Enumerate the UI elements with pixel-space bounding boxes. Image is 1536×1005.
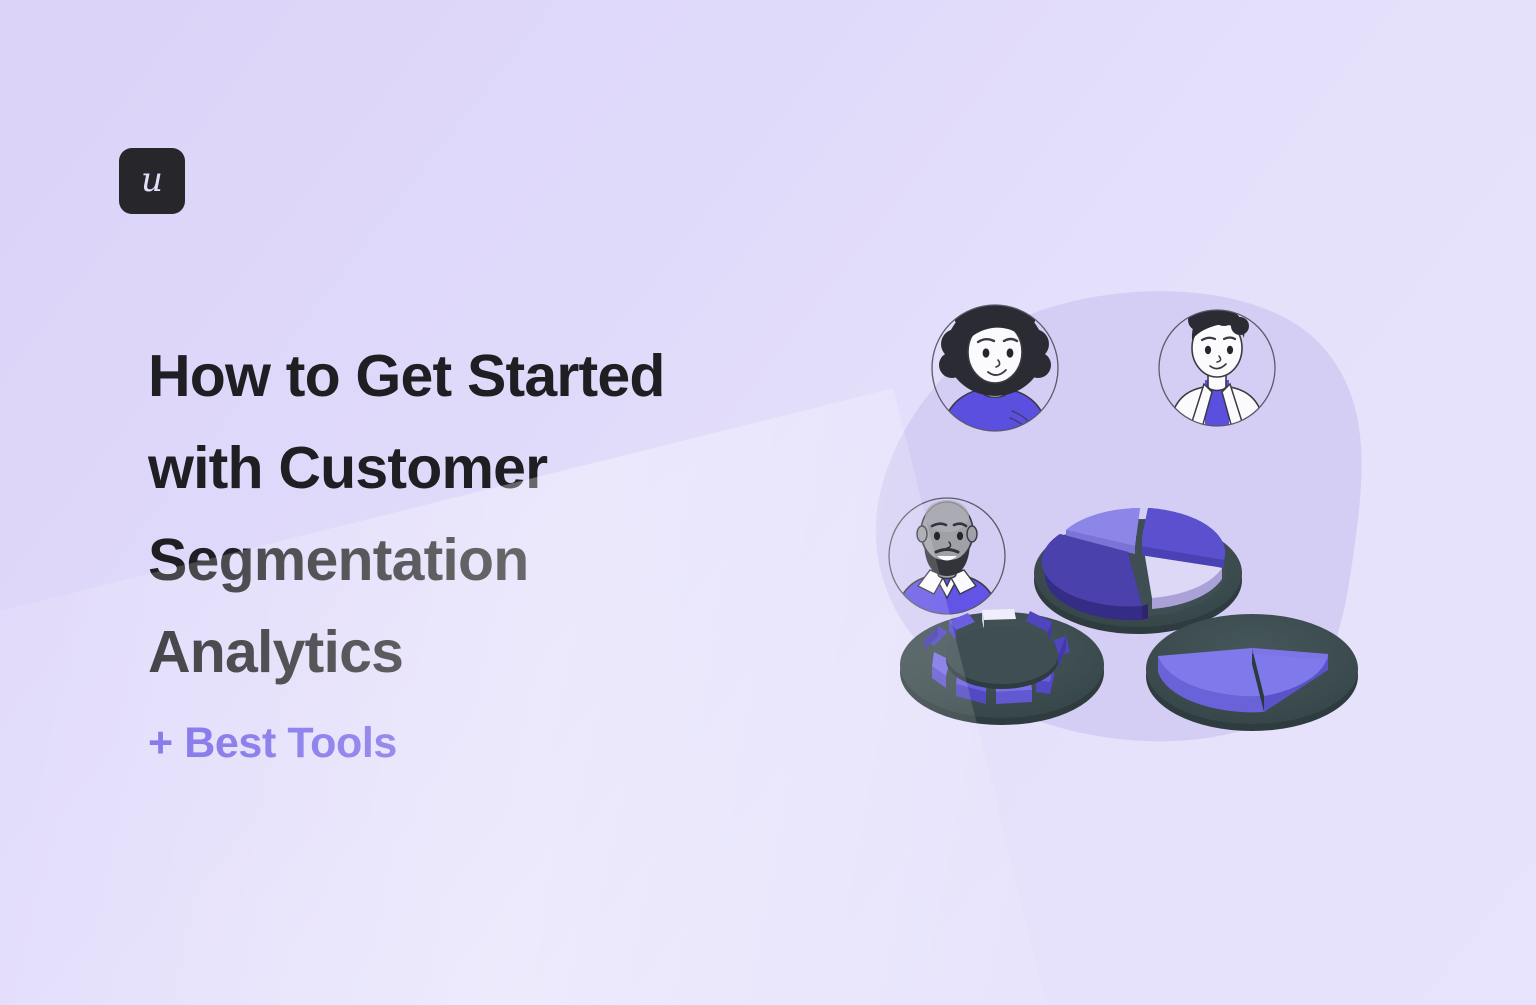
page-subtitle: + Best Tools <box>148 720 788 767</box>
logo-glyph: u <box>141 163 163 197</box>
split-pie-chart <box>1146 614 1358 731</box>
hero-copy: How to Get Started with Customer Segment… <box>148 330 788 767</box>
page-title: How to Get Started with Customer Segment… <box>148 330 788 698</box>
userpilot-logo[interactable]: u <box>119 148 185 214</box>
customer-segmentation-illustration <box>852 268 1412 748</box>
hero-banner: u How to Get Started with Customer Segme… <box>0 0 1536 1005</box>
